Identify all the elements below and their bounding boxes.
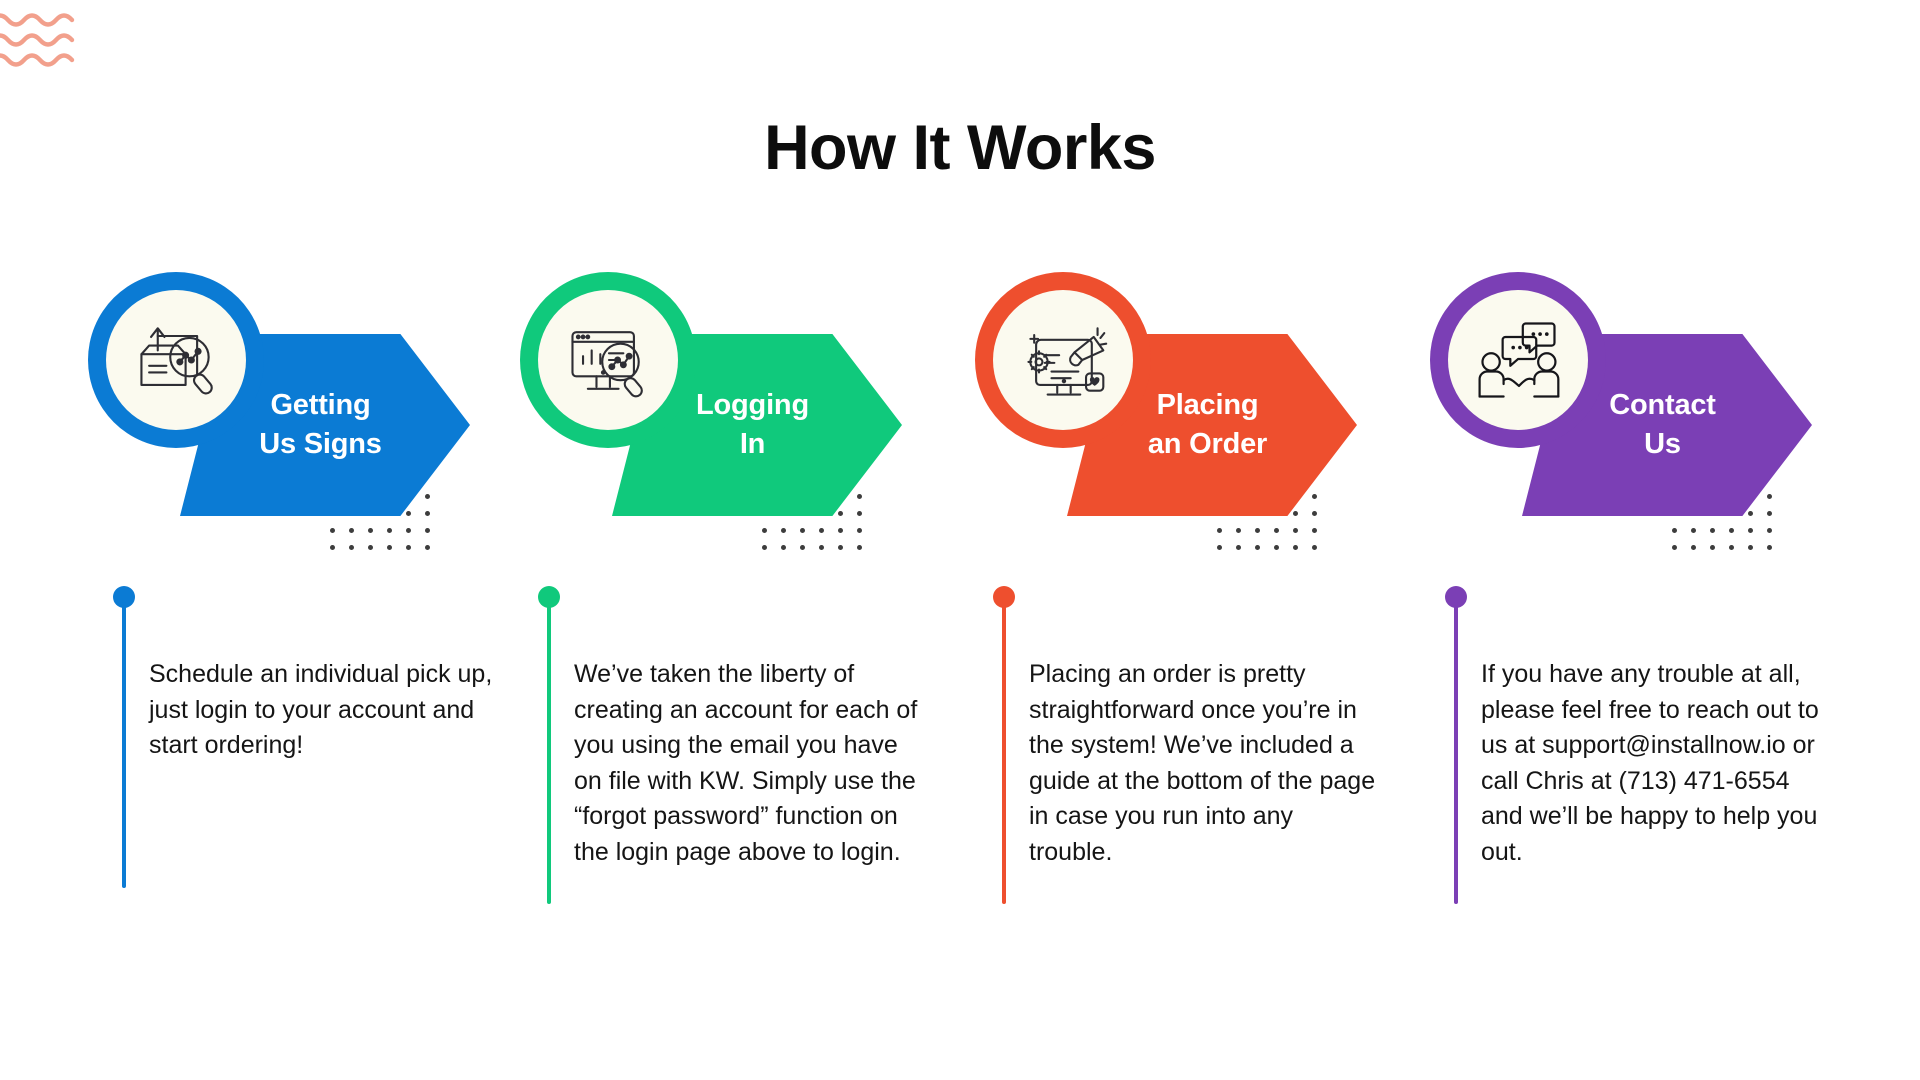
- grid-dot: [1748, 511, 1753, 516]
- grid-dot: [1255, 528, 1260, 533]
- grid-dot: [838, 511, 843, 516]
- step-description-1: Schedule an individual pick up, just log…: [149, 657, 497, 764]
- grid-dot: [857, 528, 862, 533]
- grid-dot: [857, 545, 862, 550]
- grid-dot: [1236, 528, 1241, 533]
- step-icon-badge-1: [88, 272, 264, 448]
- grid-dot: [1217, 528, 1222, 533]
- grid-dot: [1729, 545, 1734, 550]
- grid-dot: [1748, 528, 1753, 533]
- grid-dot: [368, 528, 373, 533]
- grid-dot: [1767, 511, 1772, 516]
- step-icon-badge-2: [520, 272, 696, 448]
- monitor-dashboard-magnifier-icon: [538, 290, 678, 430]
- grid-dot: [1274, 545, 1279, 550]
- grid-dot: [387, 528, 392, 533]
- grid-dot: [1312, 528, 1317, 533]
- grid-dot: [349, 545, 354, 550]
- grid-dot: [762, 528, 767, 533]
- grid-dot: [762, 545, 767, 550]
- people-chat-bubbles-icon: [1448, 290, 1588, 430]
- grid-dot: [330, 528, 335, 533]
- step-description-2: We’ve taken the liberty of creating an a…: [574, 657, 922, 870]
- grid-dot: [1293, 545, 1298, 550]
- package-arrow-magnifier-icon: [106, 290, 246, 430]
- grid-dot: [387, 545, 392, 550]
- grid-dot: [1767, 545, 1772, 550]
- grid-dot: [1710, 528, 1715, 533]
- grid-dot: [1255, 545, 1260, 550]
- grid-dot: [800, 545, 805, 550]
- step-logging-in[interactable]: Logging In: [520, 272, 940, 572]
- grid-dot: [857, 511, 862, 516]
- grid-dot: [406, 528, 411, 533]
- grid-dot: [1312, 545, 1317, 550]
- grid-dot: [838, 528, 843, 533]
- step-placing-an-order[interactable]: Placing an Order: [975, 272, 1395, 572]
- grid-dot: [800, 528, 805, 533]
- step-getting-us-signs[interactable]: Getting Us Signs: [88, 272, 508, 572]
- grid-dot: [781, 545, 786, 550]
- grid-dot: [1767, 528, 1772, 533]
- step-description-3: Placing an order is pretty straightforwa…: [1029, 657, 1377, 870]
- grid-dot: [838, 545, 843, 550]
- grid-dot: [349, 528, 354, 533]
- step-icon-badge-4: [1430, 272, 1606, 448]
- grid-dot: [781, 528, 786, 533]
- grid-dot: [1710, 545, 1715, 550]
- grid-dot: [425, 545, 430, 550]
- grid-dot: [1767, 494, 1772, 499]
- grid-dot: [406, 545, 411, 550]
- grid-dot: [857, 494, 862, 499]
- grid-dot: [368, 545, 373, 550]
- grid-dot: [1293, 511, 1298, 516]
- descriptions-row: Schedule an individual pick up, just log…: [0, 586, 1920, 1006]
- grid-dot: [1274, 528, 1279, 533]
- page-title: How It Works: [0, 112, 1920, 184]
- step-icon-badge-3: [975, 272, 1151, 448]
- monitor-megaphone-gear-icon: [993, 290, 1133, 430]
- step-contact-us[interactable]: Contact Us: [1430, 272, 1850, 572]
- grid-dot: [1729, 528, 1734, 533]
- grid-dot: [425, 511, 430, 516]
- grid-dot: [1312, 511, 1317, 516]
- grid-dot: [425, 494, 430, 499]
- grid-dot: [1672, 528, 1677, 533]
- grid-dot: [1293, 528, 1298, 533]
- grid-dot: [1691, 545, 1696, 550]
- connector-line-2: [547, 602, 551, 904]
- grid-dot: [1312, 494, 1317, 499]
- connector-line-3: [1002, 602, 1006, 904]
- grid-dot: [819, 528, 824, 533]
- step-description-4: If you have any trouble at all, please f…: [1481, 657, 1829, 870]
- connector-line-4: [1454, 602, 1458, 904]
- grid-dot: [1672, 545, 1677, 550]
- grid-dot: [819, 545, 824, 550]
- grid-dot: [1236, 545, 1241, 550]
- grid-dot: [1691, 528, 1696, 533]
- grid-dot: [425, 528, 430, 533]
- steps-row: Getting Us Signs: [0, 272, 1920, 582]
- grid-dot: [1217, 545, 1222, 550]
- grid-dot: [406, 511, 411, 516]
- wavy-lines-decoration: [0, 8, 90, 70]
- connector-line-1: [122, 602, 126, 888]
- grid-dot: [1748, 545, 1753, 550]
- grid-dot: [330, 545, 335, 550]
